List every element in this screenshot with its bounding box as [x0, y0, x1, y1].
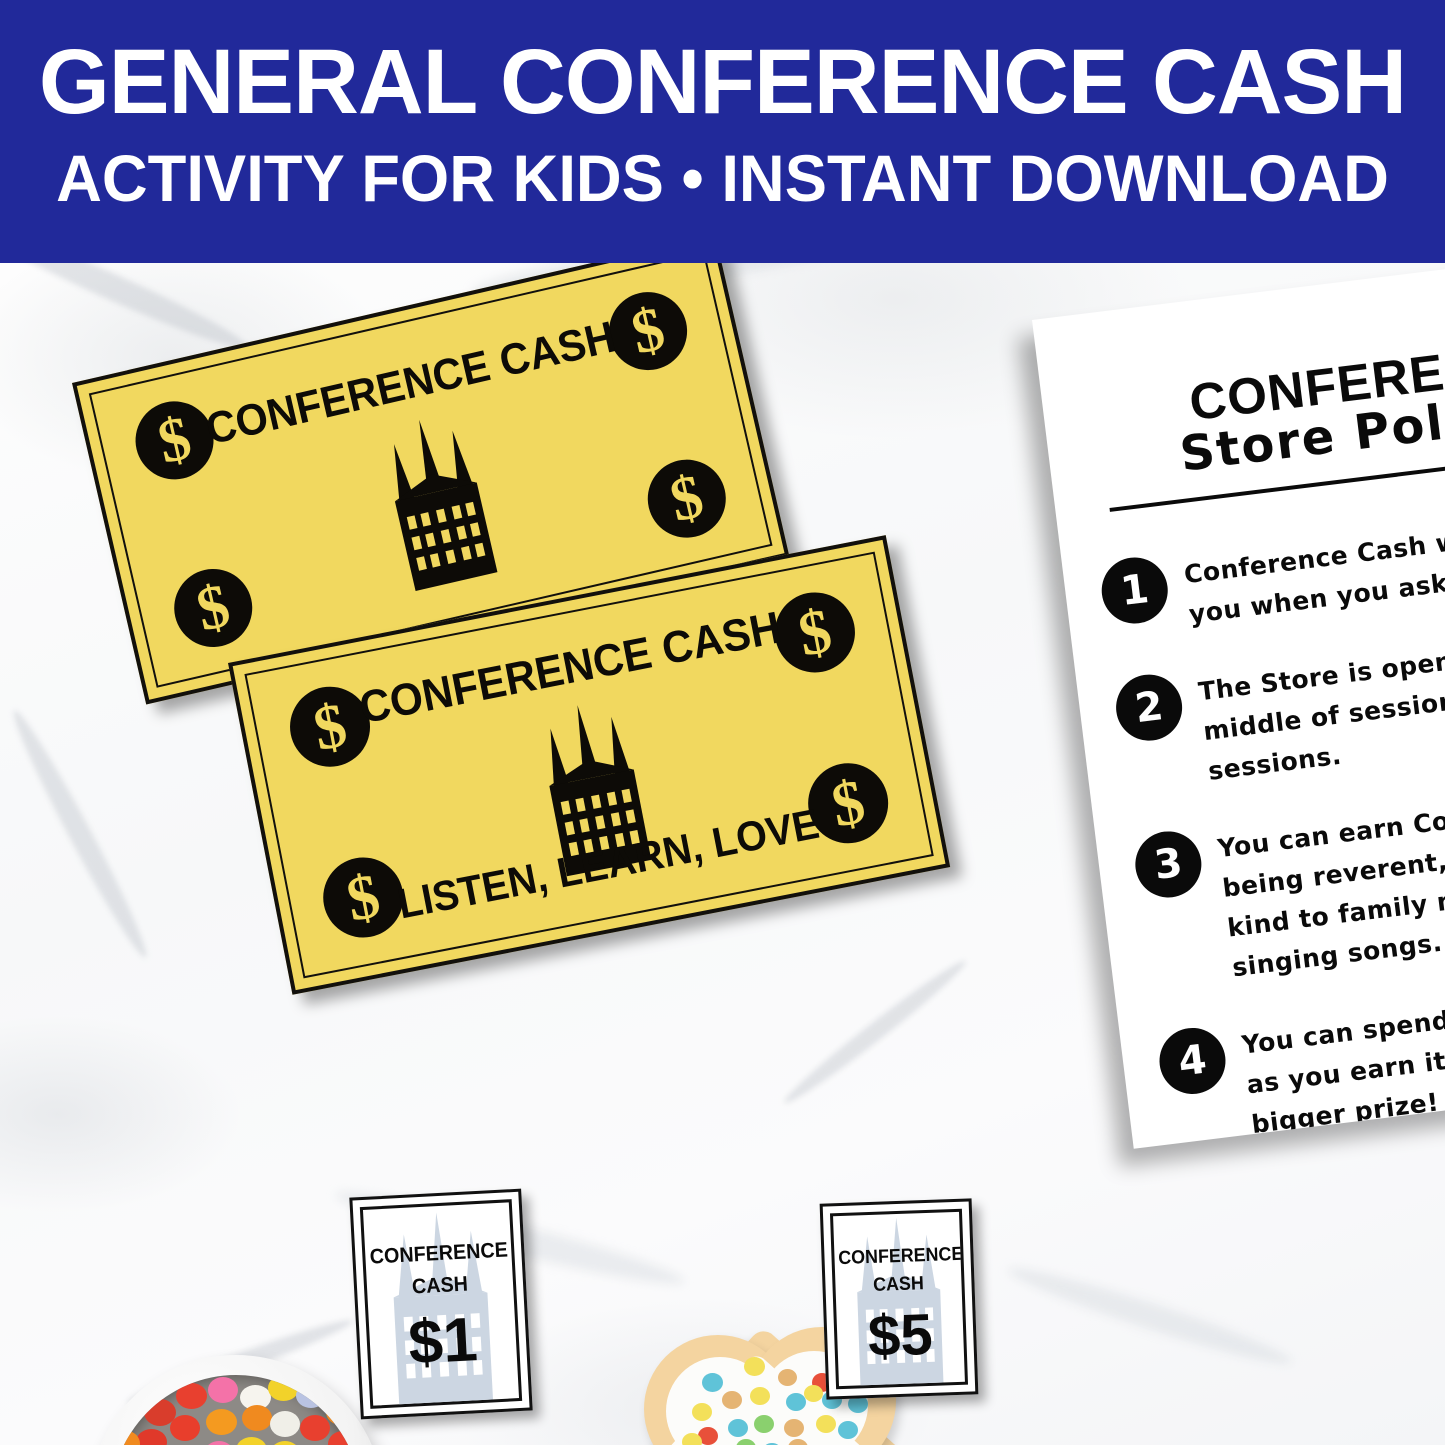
- policy-number-badge: 1: [1098, 554, 1172, 628]
- candy-piece: [176, 1383, 207, 1409]
- policy-text: Conference Cash will be given to you whe…: [1181, 489, 1445, 635]
- price-card-line1: CONFERENCE: [838, 1244, 957, 1270]
- policy-item: 3 You can earn Conference Cash by being …: [1132, 763, 1445, 999]
- candy-piece: [296, 1383, 326, 1408]
- candy-piece: [270, 1441, 300, 1445]
- candy-piece: [170, 1415, 200, 1441]
- candy-piece: [236, 1437, 267, 1445]
- candy-piece: [206, 1409, 237, 1435]
- conference-store-policies-sheet: CONFERENCE Store Policies 1 Conference C…: [1032, 263, 1445, 1149]
- price-card-1: CONFERENCE CASH $1: [349, 1189, 532, 1420]
- candy-piece: [242, 1405, 272, 1431]
- sprinkle: [816, 1415, 836, 1433]
- dollar-symbol: $: [190, 570, 236, 646]
- sprinkle: [750, 1387, 770, 1405]
- dollar-symbol: $: [664, 461, 710, 537]
- policy-text: The Store is open during the middle of s…: [1196, 606, 1445, 792]
- sprinkle: [744, 1357, 765, 1376]
- sprinkle: [786, 1393, 806, 1411]
- sprinkle: [728, 1419, 748, 1437]
- sprinkle: [722, 1391, 742, 1409]
- sprinkle: [754, 1415, 774, 1433]
- candy-piece: [204, 1441, 234, 1445]
- marble-vein: [779, 954, 971, 1110]
- price-card-inner: CONFERENCE CASH $5: [830, 1209, 968, 1389]
- policy-text: You can earn Conference Cash by being re…: [1215, 763, 1445, 989]
- sprinkle: [682, 1433, 702, 1445]
- page-title: GENERAL CONFERENCE CASH: [7, 34, 1438, 130]
- candy-piece: [114, 1431, 140, 1445]
- candy-piece: [300, 1415, 330, 1441]
- policy-item: 1 Conference Cash will be given to you w…: [1098, 489, 1445, 645]
- sprinkle: [838, 1421, 858, 1439]
- candy-piece: [268, 1375, 299, 1401]
- sprinkle: [692, 1403, 712, 1421]
- policy-number-badge: 2: [1112, 671, 1186, 745]
- product-photo: $ $ $ $ CONFERENCE CASH: [0, 263, 1445, 1445]
- price-card-amount: $1: [368, 1302, 518, 1381]
- policy-text: You can spend your cash as soon as you e…: [1239, 959, 1445, 1145]
- marble-vein: [0, 263, 252, 359]
- price-card-inner: CONFERENCE CASH $1: [360, 1199, 522, 1409]
- sprinkle: [778, 1369, 797, 1386]
- price-card-amount: $5: [836, 1300, 964, 1371]
- policy-list: 1 Conference Cash will be given to you w…: [1098, 489, 1445, 1149]
- sprinkle: [702, 1373, 723, 1392]
- candy-piece: [326, 1399, 356, 1425]
- candy-piece: [270, 1411, 300, 1437]
- policy-number-badge: 4: [1156, 1024, 1230, 1098]
- policy-number-badge: 3: [1132, 828, 1206, 902]
- page-subtitle: ACTIVITY FOR KIDS • INSTANT DOWNLOAD: [29, 142, 1416, 214]
- marble-vein: [5, 705, 156, 963]
- sprinkle: [784, 1419, 804, 1437]
- candy-bowl: [88, 1355, 384, 1445]
- candy-piece: [208, 1377, 238, 1403]
- candy-piece: [136, 1429, 167, 1445]
- marble-vein: [1003, 1257, 1296, 1374]
- sprinkle: [804, 1385, 823, 1402]
- price-card-line2: CASH: [839, 1272, 958, 1298]
- price-card-5: CONFERENCE CASH $5: [820, 1198, 979, 1399]
- header-banner: GENERAL CONFERENCE CASH ACTIVITY FOR KID…: [0, 0, 1445, 263]
